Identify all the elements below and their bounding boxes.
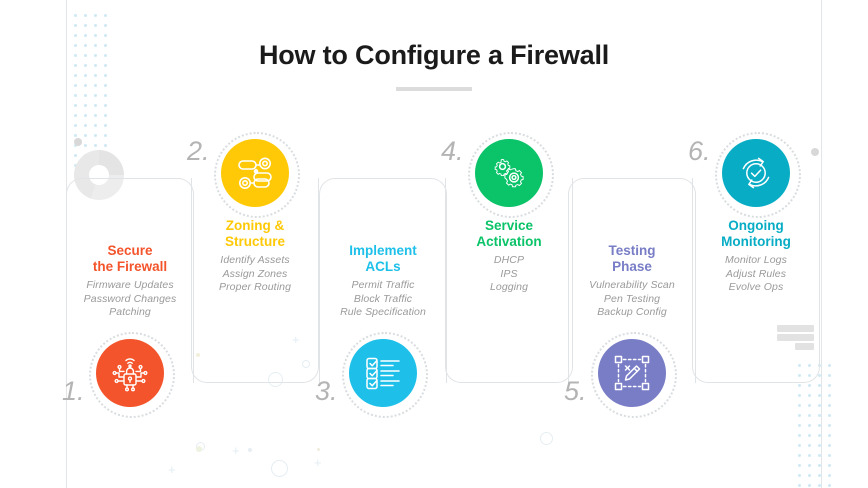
grid-dot: [84, 34, 87, 37]
grid-dot: [74, 34, 77, 37]
grid-dot: [798, 404, 801, 407]
grid-dot: [818, 444, 821, 447]
grid-dot: [104, 114, 107, 117]
grid-dot: [808, 434, 811, 437]
step-icon-badge[interactable]: [598, 339, 666, 407]
step-heading-line1: Service: [485, 218, 533, 233]
grid-dot: [74, 134, 77, 137]
plus-decoration-2: +: [232, 444, 240, 457]
grid-dot: [798, 464, 801, 467]
step-number: 5.: [564, 376, 587, 407]
step-heading: OngoingMonitoring: [681, 218, 831, 249]
grid-dot: [84, 14, 87, 17]
step-heading-line2: the Firewall: [93, 259, 167, 274]
grid-dot: [94, 14, 97, 17]
step-icon-badge[interactable]: [96, 339, 164, 407]
grid-dot: [828, 394, 831, 397]
grid-dot: [94, 34, 97, 37]
step-heading-line2: Phase: [612, 259, 652, 274]
step-heading-line2: Activation: [476, 234, 541, 249]
step-number: 6.: [688, 136, 711, 167]
grid-dot: [74, 14, 77, 17]
grid-dot: [828, 434, 831, 437]
grid-dot: [798, 384, 801, 387]
grid-dot: [798, 424, 801, 427]
grid-dot: [104, 84, 107, 87]
step-heading-line1: Ongoing: [728, 218, 783, 233]
step-icon-badge[interactable]: [475, 139, 543, 207]
grid-dot: [828, 474, 831, 477]
step-item: Evolve Ops: [681, 281, 831, 295]
grid-dot: [828, 444, 831, 447]
grid-dot: [808, 404, 811, 407]
step-item: Backup Config: [557, 306, 707, 320]
grid-dot: [74, 74, 77, 77]
refresh-check-icon: [722, 139, 790, 207]
step-number: 1.: [62, 376, 85, 407]
grid-dot: [828, 374, 831, 377]
step-item: Password Changes: [55, 293, 205, 307]
grid-dot: [808, 464, 811, 467]
grid-dot: [828, 464, 831, 467]
outline-circle-4: [540, 432, 553, 445]
step-text-block: OngoingMonitoringMonitor LogsAdjust Rule…: [681, 218, 831, 295]
grid-dot: [828, 384, 831, 387]
grid-dot: [828, 404, 831, 407]
step-item: Patching: [55, 306, 205, 320]
grid-dot: [808, 484, 811, 487]
padlock-circuit-icon: [96, 339, 164, 407]
step-number: 4.: [441, 136, 464, 167]
infographic-canvas: + + + + How to Configure a Firewall Secu…: [0, 0, 868, 488]
step-heading-line1: Implement: [349, 243, 417, 258]
title-underline: [396, 87, 472, 91]
grid-dot: [818, 434, 821, 437]
grid-dot: [828, 364, 831, 367]
grid-dot: [798, 414, 801, 417]
grid-dot: [798, 454, 801, 457]
grid-dot: [104, 144, 107, 147]
grid-dot: [798, 434, 801, 437]
network-zones-icon: [221, 139, 289, 207]
grid-dot: [94, 124, 97, 127]
grid-dot: [818, 404, 821, 407]
step-item: Pen Testing: [557, 293, 707, 307]
grid-dot: [84, 144, 87, 147]
outline-circle-2: [271, 460, 288, 477]
grid-dot: [798, 484, 801, 487]
grid-dot: [104, 124, 107, 127]
gears-icon: [475, 139, 543, 207]
step-icon-badge[interactable]: [722, 139, 790, 207]
grid-dot: [84, 74, 87, 77]
step-heading-line1: Testing: [609, 243, 656, 258]
grid-dot: [104, 134, 107, 137]
grid-dot: [798, 474, 801, 477]
grid-dot: [74, 94, 77, 97]
grid-dot: [74, 154, 77, 157]
grid-dot: [84, 94, 87, 97]
grid-dot: [798, 444, 801, 447]
grid-dot: [818, 464, 821, 467]
grid-dot: [818, 384, 821, 387]
grid-dot: [808, 394, 811, 397]
plus-decoration-3: +: [168, 463, 176, 476]
grid-dot: [828, 454, 831, 457]
step-number: 3.: [315, 376, 338, 407]
step-item: Rule Specification: [308, 306, 458, 320]
tiny-dot-2: [196, 446, 202, 452]
grid-dot: [818, 424, 821, 427]
grid-dot: [94, 24, 97, 27]
grid-dot: [104, 34, 107, 37]
grid-dot: [808, 474, 811, 477]
grid-dot: [84, 124, 87, 127]
tiny-dot-3: [248, 448, 252, 452]
grid-dot: [104, 74, 107, 77]
grid-dot: [94, 74, 97, 77]
grid-dot: [798, 394, 801, 397]
step-item-list: Monitor LogsAdjust RulesEvolve Ops: [681, 254, 831, 295]
checklist-icon: [349, 339, 417, 407]
grid-dot: [94, 144, 97, 147]
grid-dot: [808, 384, 811, 387]
grid-dot: [808, 414, 811, 417]
step-number: 2.: [187, 136, 210, 167]
grid-dot: [84, 134, 87, 137]
grid-dot: [818, 414, 821, 417]
grid-dot: [84, 84, 87, 87]
grid-dot: [818, 454, 821, 457]
grid-dot: [74, 84, 77, 87]
grid-dot: [94, 114, 97, 117]
grid-dot: [104, 104, 107, 107]
grid-dot: [104, 94, 107, 97]
grid-dot: [828, 484, 831, 487]
grid-dot: [818, 474, 821, 477]
test-tools-icon: [598, 339, 666, 407]
step-item: Monitor Logs: [681, 254, 831, 268]
step-heading-line1: Secure: [107, 243, 152, 258]
grid-dot: [74, 104, 77, 107]
step-heading-line1: Zoning &: [226, 218, 284, 233]
grid-dot: [818, 484, 821, 487]
page-title: How to Configure a Firewall: [0, 40, 868, 71]
grid-dot: [74, 114, 77, 117]
accent-dot-left: [74, 138, 82, 146]
grid-dot: [808, 454, 811, 457]
grid-dot: [818, 394, 821, 397]
grid-dot: [94, 84, 97, 87]
step-heading-line2: ACLs: [365, 259, 400, 274]
grid-dot: [828, 414, 831, 417]
grid-dot: [94, 104, 97, 107]
step-icon-badge[interactable]: [349, 339, 417, 407]
plus-decoration-4: +: [314, 456, 322, 469]
grid-dot: [104, 24, 107, 27]
grid-dot: [818, 374, 821, 377]
grid-dot: [84, 24, 87, 27]
step-icon-badge[interactable]: [221, 139, 289, 207]
step-item: Adjust Rules: [681, 268, 831, 282]
grid-dot: [808, 444, 811, 447]
step-item: Block Traffic: [308, 293, 458, 307]
accent-dot-right: [811, 148, 819, 156]
step-heading-line2: Monitoring: [721, 234, 791, 249]
grid-dot: [74, 24, 77, 27]
grid-dot: [94, 94, 97, 97]
grid-dot: [94, 134, 97, 137]
grid-dot: [84, 114, 87, 117]
grid-dot: [828, 424, 831, 427]
tiny-dot-4: [317, 448, 320, 451]
grid-dot: [84, 104, 87, 107]
grid-dot: [808, 424, 811, 427]
grid-dot: [104, 14, 107, 17]
step-heading-line2: Structure: [225, 234, 285, 249]
grid-dot: [74, 124, 77, 127]
